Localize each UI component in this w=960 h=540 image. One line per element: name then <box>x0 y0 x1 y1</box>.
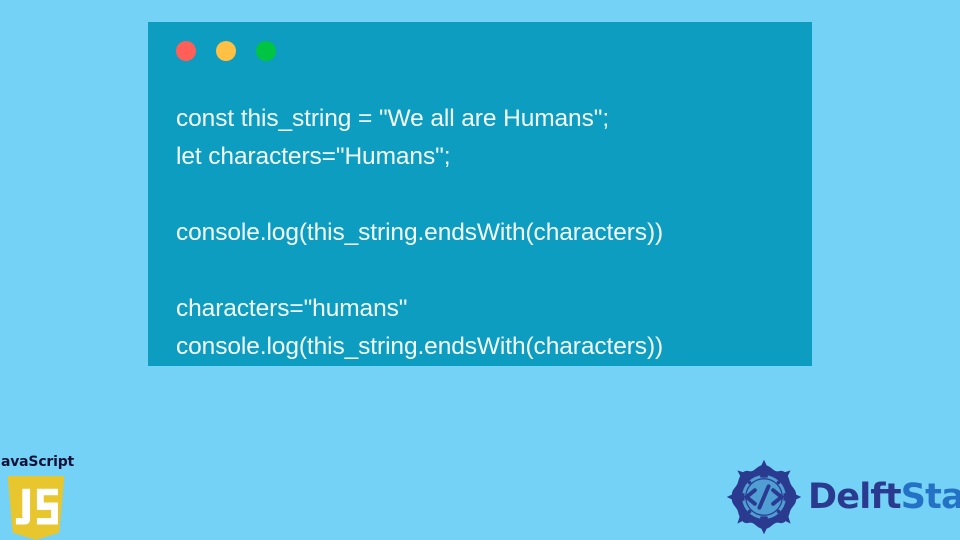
code-editor-area[interactable]: const this_string = "We all are Humans";… <box>176 100 802 358</box>
code-line: console.log(this_string.endsWith(charact… <box>176 328 802 366</box>
delftstack-mandala-icon <box>726 459 802 535</box>
slide-canvas: const this_string = "We all are Humans";… <box>0 0 960 540</box>
close-window-button[interactable] <box>176 41 196 61</box>
delftstack-wordmark: DelftStack <box>808 480 960 515</box>
code-line: console.log(this_string.endsWith(charact… <box>176 214 802 252</box>
javascript-logo: JavaScript <box>0 454 76 540</box>
javascript-wordmark: JavaScript <box>0 454 74 470</box>
code-window: const this_string = "We all are Humans";… <box>148 22 812 366</box>
javascript-shield-icon <box>5 476 67 540</box>
code-window-titlebar <box>148 22 812 80</box>
code-line: const this_string = "We all are Humans"; <box>176 100 802 138</box>
maximize-window-button[interactable] <box>256 41 276 61</box>
code-line: characters="humans" <box>176 290 802 328</box>
delftstack-logo: DelftStack <box>726 458 954 536</box>
code-line: let characters="Humans"; <box>176 138 802 176</box>
delftstack-name-part-two: Stack <box>901 477 960 517</box>
code-line-blank <box>176 176 802 214</box>
code-line-blank <box>176 252 802 290</box>
minimize-window-button[interactable] <box>216 41 236 61</box>
delftstack-name-part-one: Delft <box>808 477 901 517</box>
